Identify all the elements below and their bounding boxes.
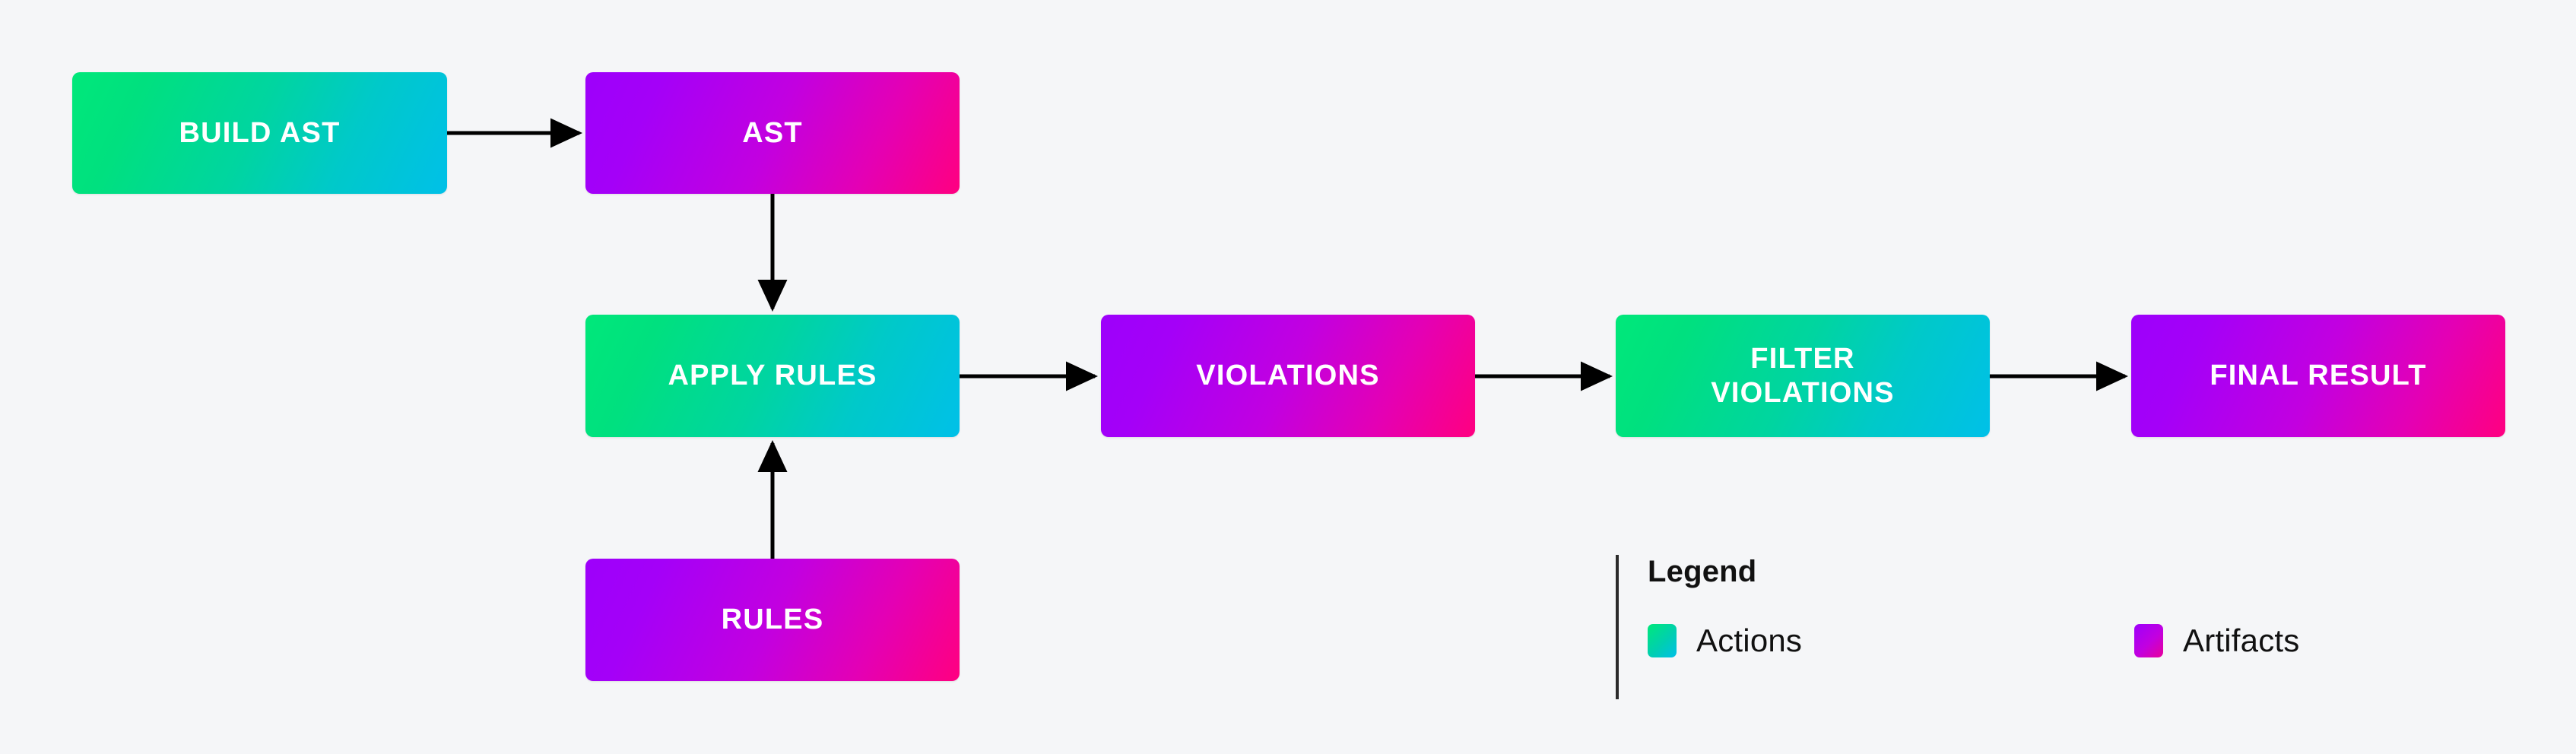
- node-filter-violations[interactable]: FILTER VIOLATIONS: [1616, 315, 1990, 437]
- node-apply-rules-label: APPLY RULES: [668, 359, 877, 393]
- node-apply-rules[interactable]: APPLY RULES: [585, 315, 960, 437]
- diagram-canvas: BUILD AST AST APPLY RULES VIOLATIONS FIL…: [0, 0, 2576, 754]
- legend-label-artifacts: Artifacts: [2183, 623, 2300, 659]
- legend-item-artifacts: Artifacts: [2134, 623, 2300, 659]
- node-violations-label: VIOLATIONS: [1196, 359, 1379, 393]
- legend-title: Legend: [1648, 555, 2422, 589]
- legend-swatch-actions-icon: [1648, 624, 1677, 657]
- node-build-ast-label: BUILD AST: [179, 116, 340, 150]
- legend: Legend Actions Artifacts: [1616, 555, 2422, 699]
- legend-item-actions: Actions: [1648, 623, 2134, 659]
- node-rules-label: RULES: [722, 603, 824, 637]
- node-ast-label: AST: [742, 116, 803, 150]
- legend-items: Actions Artifacts: [1648, 623, 2422, 659]
- node-ast[interactable]: AST: [585, 72, 960, 194]
- node-violations[interactable]: VIOLATIONS: [1101, 315, 1475, 437]
- node-final-result[interactable]: FINAL RESULT: [2131, 315, 2505, 437]
- node-filter-violations-label: FILTER VIOLATIONS: [1711, 342, 1894, 410]
- node-rules[interactable]: RULES: [585, 559, 960, 681]
- legend-label-actions: Actions: [1696, 623, 1802, 659]
- node-final-result-label: FINAL RESULT: [2210, 359, 2426, 393]
- node-build-ast[interactable]: BUILD AST: [72, 72, 447, 194]
- legend-swatch-artifacts-icon: [2134, 624, 2163, 657]
